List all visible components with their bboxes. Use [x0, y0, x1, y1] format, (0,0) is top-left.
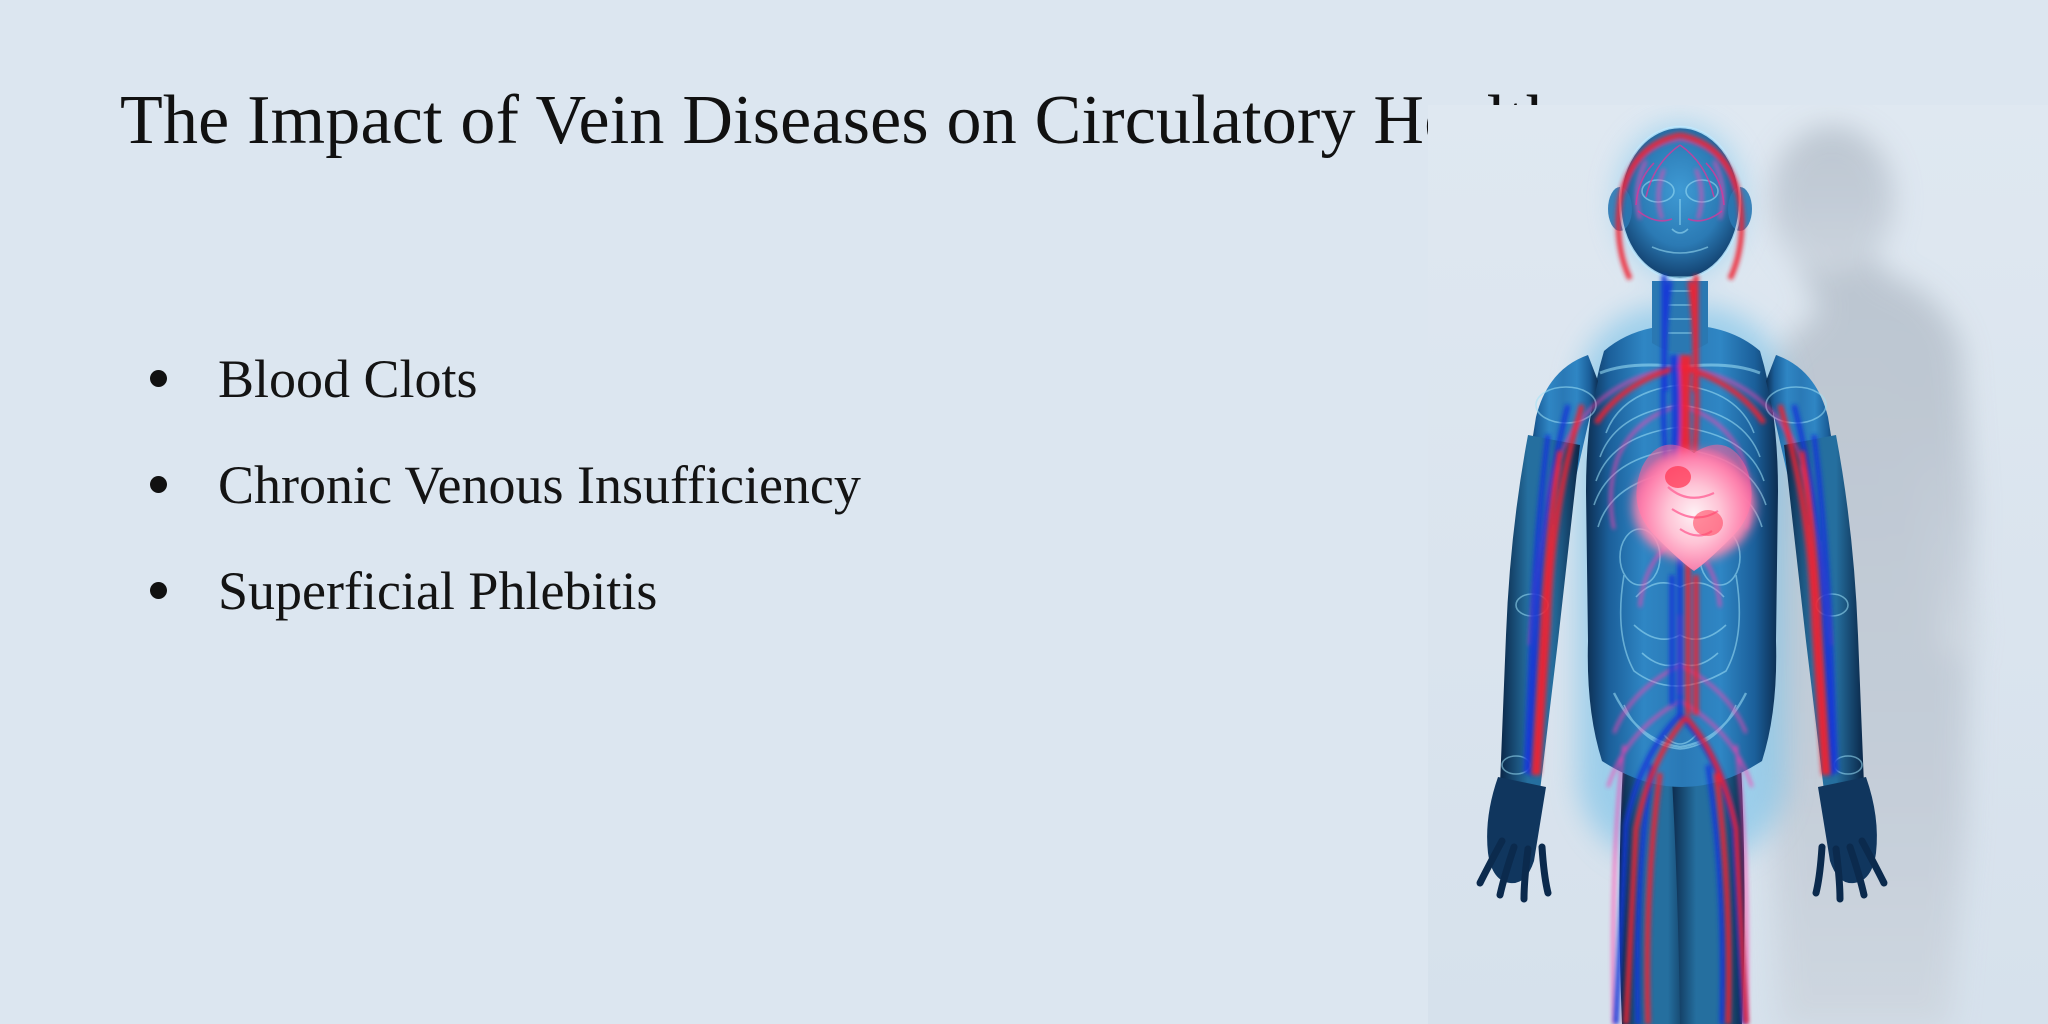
list-item-label: Chronic Venous Insufficiency [218, 458, 861, 512]
slide-canvas: The Impact of Vein Diseases on Circulato… [0, 0, 2048, 1024]
circulatory-system-illustration [1428, 105, 2048, 1024]
list-item: Blood Clots [150, 352, 1150, 406]
bullet-list: Blood Clots Chronic Venous Insufficiency… [150, 352, 1150, 670]
anatomy-svg [1428, 105, 2048, 1024]
bullet-dot-icon [150, 370, 167, 387]
bullet-dot-icon [150, 582, 167, 599]
list-item: Superficial Phlebitis [150, 564, 1150, 618]
bullet-dot-icon [150, 476, 167, 493]
list-item-label: Superficial Phlebitis [218, 564, 657, 618]
list-item: Chronic Venous Insufficiency [150, 458, 1150, 512]
list-item-label: Blood Clots [218, 352, 478, 406]
